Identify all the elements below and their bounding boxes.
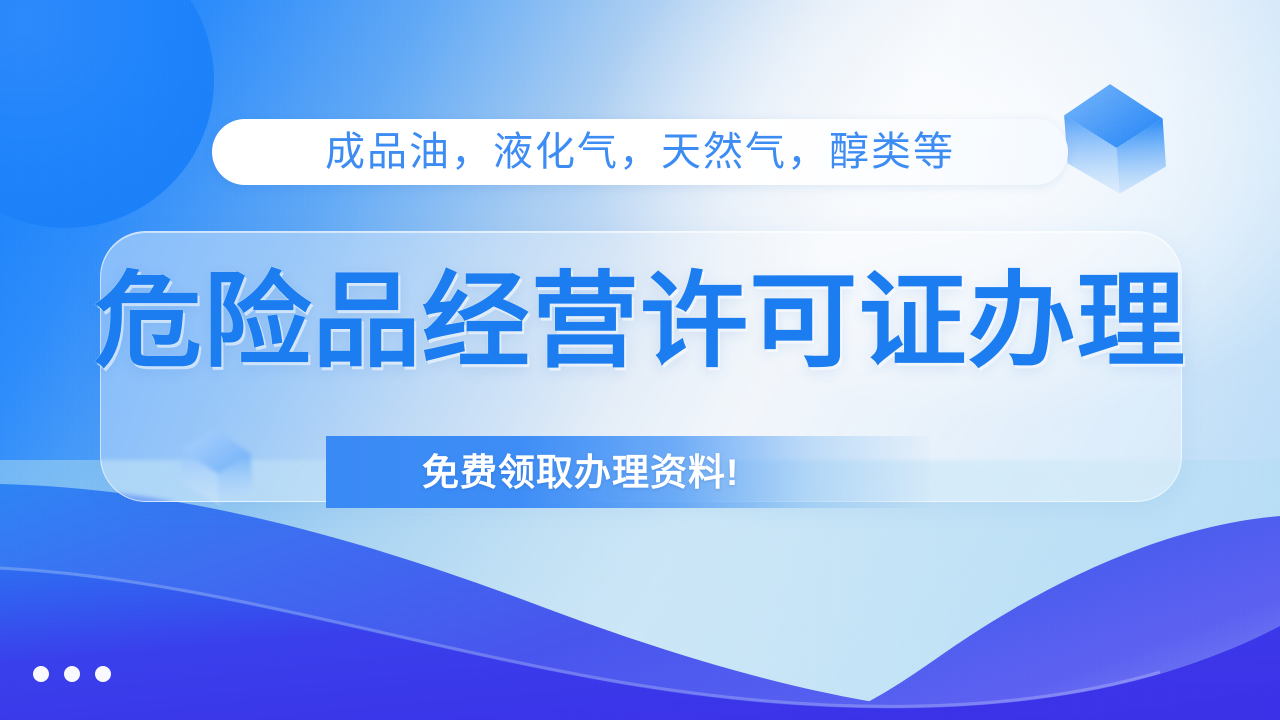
cta-banner-label: 免费领取办理资料! bbox=[422, 454, 739, 491]
cta-banner[interactable]: 免费领取办理资料! bbox=[326, 436, 930, 508]
dot-3 bbox=[95, 666, 111, 682]
dot-1 bbox=[33, 666, 49, 682]
poster-content: 成品油，液化气，天然气，醇类等 危险品经营许可证办理 免费领取办理资料! bbox=[0, 0, 1280, 720]
dot-2 bbox=[64, 666, 80, 682]
subtitle-chip: 成品油，液化气，天然气，醇类等 bbox=[212, 119, 1068, 185]
dot-indicators bbox=[33, 666, 111, 682]
page-title: 危险品经营许可证办理 bbox=[0, 270, 1280, 374]
promo-poster: 成品油，液化气，天然气，醇类等 危险品经营许可证办理 免费领取办理资料! bbox=[0, 0, 1280, 720]
subtitle-chip-label: 成品油，液化气，天然气，醇类等 bbox=[325, 132, 955, 172]
